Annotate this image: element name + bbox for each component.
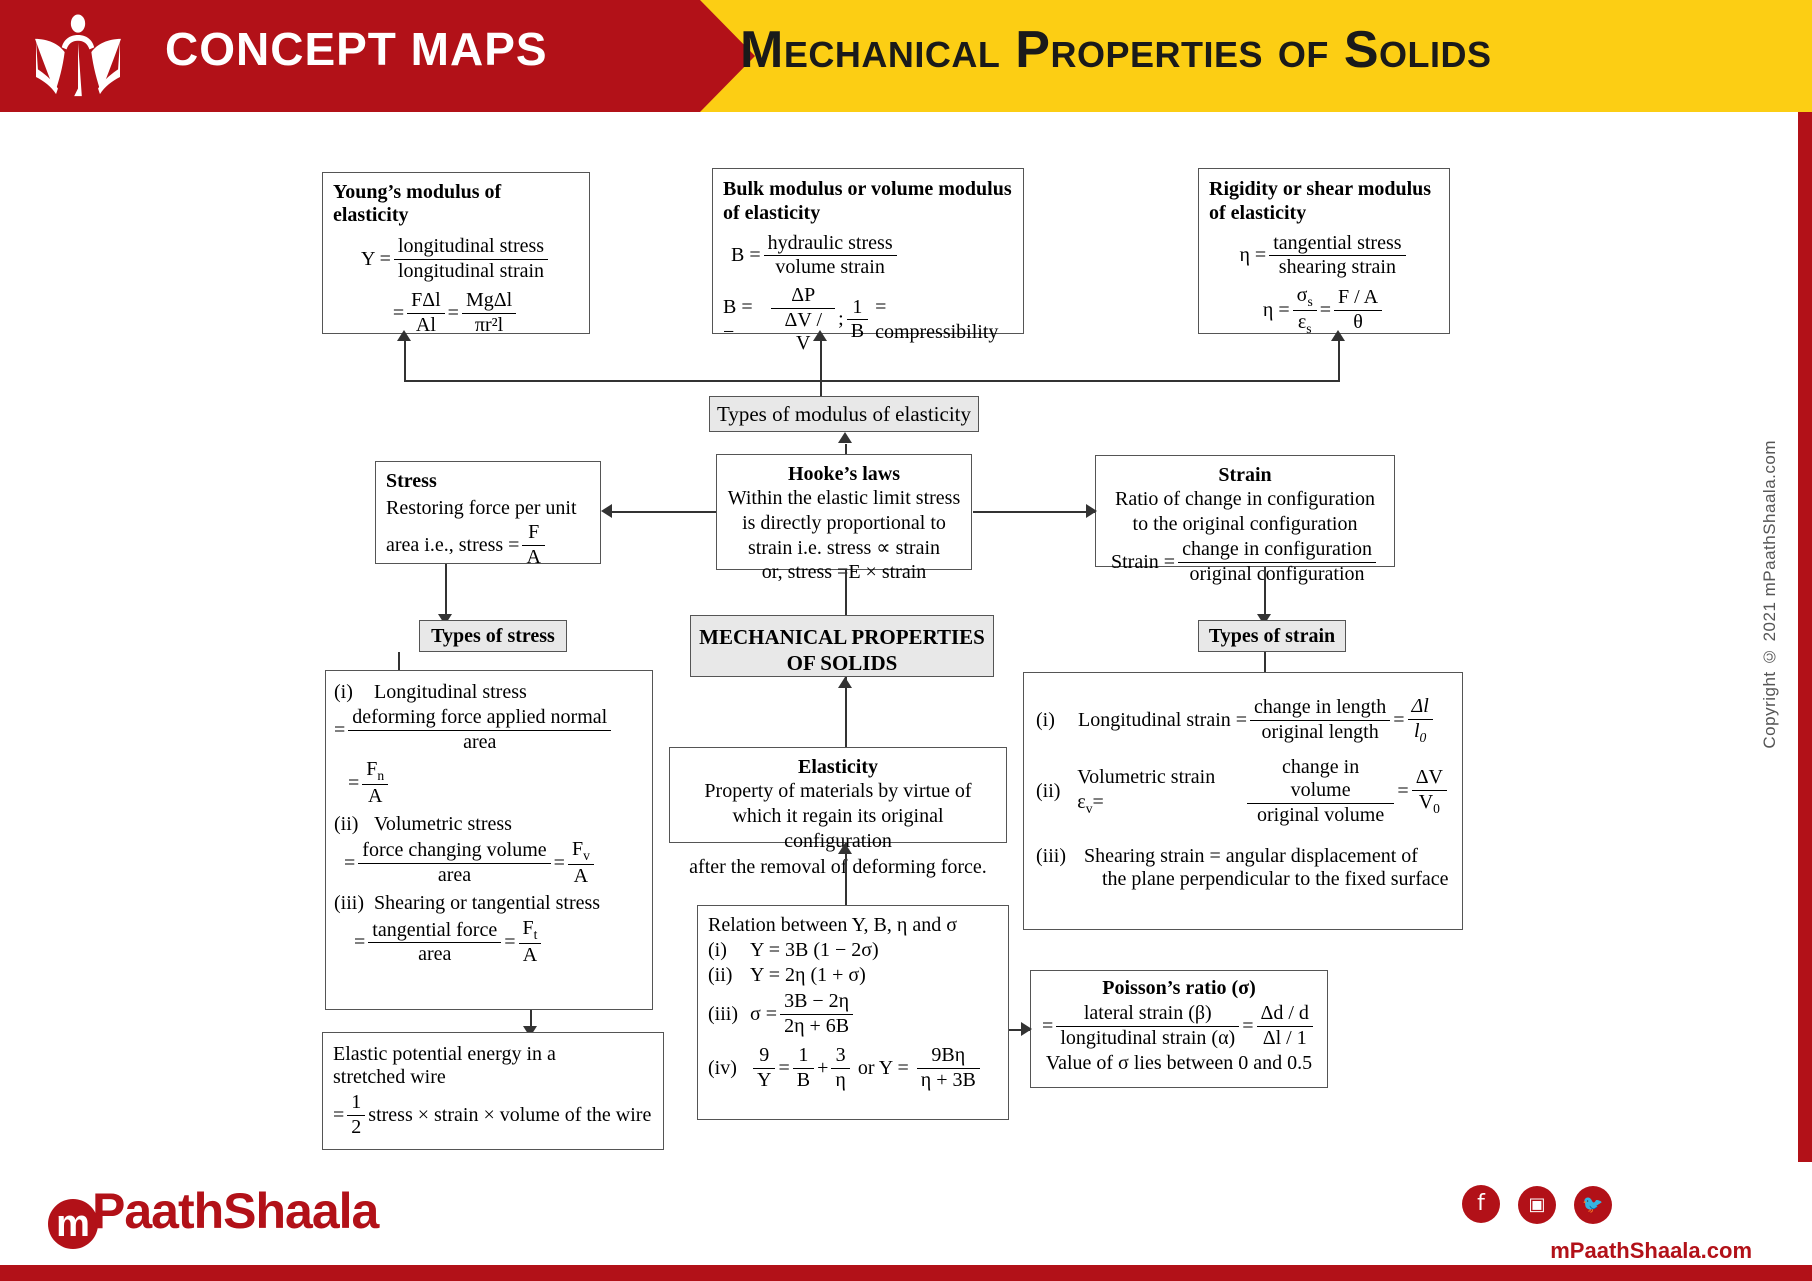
rigidity-eq1-num: tangential stress: [1269, 232, 1405, 257]
node-poissons-ratio: Poisson’s ratio (σ) = lateral strain (β)…: [1030, 970, 1328, 1088]
youngs-eq2-eq: =: [448, 301, 459, 326]
stress-iii-eq-den: area: [368, 943, 501, 967]
connector-hookes-center: [845, 570, 847, 615]
node-types-of-modulus: Types of modulus of elasticity: [709, 396, 979, 432]
poisson-eq-den: longitudinal strain (α): [1056, 1027, 1239, 1051]
hookes-line2: is directly proportional to: [727, 511, 961, 536]
stress-ii-eq-eq: =: [554, 851, 565, 876]
node-elastic-potential-energy: Elastic potential energy in a stretched …: [322, 1032, 664, 1150]
stress-iii-label: (iii): [334, 892, 374, 915]
facebook-icon[interactable]: f: [1462, 1185, 1500, 1223]
bulk-eq1-num: hydraulic stress: [764, 232, 897, 257]
relation-title: Relation between Y, B, η and σ: [708, 914, 998, 937]
stress-iii-text: Shearing or tangential stress: [374, 892, 600, 915]
stress-i-eq1-lhs: =: [334, 718, 345, 743]
strain-i-den2: l0: [1408, 720, 1433, 746]
stress-iii-eq-lhs: =: [354, 930, 365, 955]
stress-i-eq1-den: area: [348, 731, 611, 755]
types-of-modulus-label: Types of modulus of elasticity: [717, 402, 971, 426]
rigidity-eq2-eq: =: [1320, 298, 1331, 323]
relation-ii-text: Y = 2η (1 + σ): [750, 964, 866, 987]
arrow-strain-right: [1086, 504, 1097, 518]
connector-bus-h: [404, 380, 1340, 382]
youngs-eq2-num2: MgΔl: [462, 289, 516, 314]
strain-ii-den2: V0: [1412, 791, 1447, 817]
rigidity-eq2-den: εs: [1293, 311, 1317, 337]
stress-i-eq2-num: Fn: [362, 758, 388, 785]
youngs-eq1-num: longitudinal stress: [394, 235, 548, 260]
page-title: Mechanical Properties of Solids: [740, 20, 1492, 80]
node-types-of-strain: Types of strain: [1198, 620, 1346, 652]
connector-strain-down: [1264, 567, 1266, 620]
relation-iv-n2: 1: [793, 1044, 814, 1069]
stress-iii-eq-num2: Ft: [519, 917, 542, 944]
footer-logo: mPaathShaala: [48, 1182, 378, 1244]
mpaathshaala-logo-icon: [30, 14, 126, 98]
stress-i-eq2-den: A: [362, 785, 388, 809]
connector-hookes-to-stress: [612, 511, 716, 513]
strain-i-num2: Δl: [1408, 695, 1433, 720]
relation-iv-d1: Y: [753, 1069, 775, 1093]
connector-stress-down: [445, 564, 447, 620]
youngs-eq1-lhs: Y =: [361, 247, 391, 272]
node-rigidity-modulus: Rigidity or shear modulus of elasticity …: [1198, 168, 1450, 334]
rigidity-eq1-lhs: η =: [1239, 243, 1266, 268]
relation-iv-d4: η + 3B: [917, 1069, 980, 1093]
strain-eq-lhs: Strain =: [1111, 550, 1175, 575]
strain-ii-label: (ii): [1036, 779, 1077, 804]
stress-frac-den: A: [522, 546, 544, 570]
strain-iii-label: (iii): [1036, 845, 1084, 891]
rigidity-eq2-num2: F / A: [1334, 286, 1382, 311]
stress-i-eq1-num: deforming force applied normal: [348, 706, 611, 731]
strain-i-den: original length: [1250, 721, 1390, 745]
stress-ii-eq-den: area: [358, 864, 550, 888]
elastic-pe-eq-lhs: =: [333, 1103, 344, 1128]
elastic-pe-line1: Elastic potential energy in a: [333, 1043, 653, 1066]
stress-frac-num: F: [522, 521, 544, 546]
arrow-elasticity-up: [838, 843, 852, 854]
bulk-eq1-den: volume strain: [764, 256, 897, 280]
bulk-eq2-lhs: B = −: [723, 295, 768, 345]
center-line2: OF SOLIDS: [691, 650, 993, 676]
types-of-stress-label: Types of stress: [431, 625, 555, 647]
strain-i-eq: =: [1393, 708, 1404, 733]
footer-logo-text: PaathShaala: [92, 1183, 378, 1239]
stress-iii-eq-den2: A: [519, 944, 542, 968]
arrow-bulk: [813, 330, 827, 341]
poisson-eq-num2: Δd / d: [1257, 1002, 1313, 1027]
stress-line2-lhs: area i.e., stress =: [386, 533, 519, 558]
youngs-eq2-lhs: =: [393, 301, 404, 326]
relation-iii-lhs: σ =: [750, 1002, 777, 1027]
rigidity-title: Rigidity or shear modulus of elasticity: [1209, 177, 1439, 226]
stress-ii-eq-num2: Fv: [568, 838, 594, 865]
strain-i-num: change in length: [1250, 696, 1390, 721]
stress-line1: Restoring force per unit: [386, 497, 590, 520]
bulk-eq2-den2: B: [847, 320, 868, 344]
node-hookes-laws: Hooke’s laws Within the elastic limit st…: [716, 454, 972, 570]
hookes-line1: Within the elastic limit stress: [727, 486, 961, 511]
bulk-eq2-num: ΔP: [771, 284, 835, 309]
hookes-title: Hooke’s laws: [727, 463, 961, 486]
elastic-pe-num: 1: [347, 1091, 365, 1116]
center-line1: MECHANICAL PROPERTIES: [691, 624, 993, 650]
stress-ii-eq-lhs: =: [344, 851, 355, 876]
footer-logo-m: m: [48, 1199, 98, 1249]
rigidity-eq2-lhs: η =: [1263, 298, 1290, 323]
stress-ii-text: Volumetric stress: [374, 813, 512, 836]
bulk-eq2-num2: 1: [847, 296, 868, 321]
node-center-title: MECHANICAL PROPERTIES OF SOLIDS: [690, 615, 994, 677]
stress-ii-eq-den2: A: [568, 865, 594, 889]
bulk-eq2-tail: = compressibility: [875, 295, 1013, 345]
copyright-text: Copyright © 2021 mPaathShaala.com: [1760, 440, 1790, 749]
strain-ii-eq: =: [1397, 779, 1408, 804]
strain-ii-text: Volumetric strain εv=: [1077, 765, 1244, 818]
poisson-eq-lhs: =: [1042, 1014, 1053, 1039]
arrow-rigidity: [1331, 330, 1345, 341]
arrow-stress-left: [601, 504, 612, 518]
bulk-eq2-sep: ;: [838, 307, 844, 332]
youngs-title: Young’s modulus of elasticity: [333, 181, 579, 227]
strain-iii-text2: the plane perpendicular to the fixed sur…: [1084, 868, 1449, 891]
poisson-title: Poisson’s ratio (σ): [1039, 977, 1319, 1000]
hookes-line4: or, stress =E × strain: [727, 560, 961, 585]
relation-iv-n1: 9: [753, 1044, 775, 1069]
relation-iii-num: 3B − 2η: [780, 990, 853, 1015]
relation-iii-label: (iii): [708, 1002, 750, 1027]
bulk-eq1-lhs: B =: [731, 243, 761, 268]
stress-i-eq2-lhs: =: [348, 771, 359, 796]
types-of-strain-label: Types of strain: [1209, 625, 1335, 647]
node-strain-types-list: (i) Longitudinal strain = change in leng…: [1023, 672, 1463, 930]
rigidity-eq2-num: σs: [1293, 284, 1317, 311]
twitter-icon[interactable]: 🐦: [1574, 1186, 1612, 1224]
strain-eq-num: change in configuration: [1178, 538, 1376, 563]
relation-iv-or: or Y =: [858, 1056, 909, 1081]
strain-title: Strain: [1106, 464, 1384, 487]
relation-iv-n4: 9Bη: [917, 1044, 980, 1069]
elasticity-line1: Property of materials by virtue of: [680, 779, 996, 804]
stress-iii-eq-num: tangential force: [368, 919, 501, 944]
poisson-eq-eq: =: [1242, 1014, 1253, 1039]
stress-i-text: Longitudinal stress: [374, 681, 527, 704]
node-bulk-modulus: Bulk modulus or volume modulus of elasti…: [712, 168, 1024, 334]
elastic-pe-line2: stretched wire: [333, 1066, 653, 1089]
node-elasticity: Elasticity Property of materials by virt…: [669, 747, 1007, 843]
relation-i-text: Y = 3B (1 − 2σ): [750, 939, 879, 962]
elastic-pe-den: 2: [347, 1116, 365, 1140]
youngs-eq2-num: FΔl: [407, 289, 445, 314]
arrow-hookes-up: [838, 432, 852, 443]
stress-i-label: (i): [334, 681, 374, 704]
footer-bar: [0, 1265, 1812, 1281]
strain-ii-den: original volume: [1247, 804, 1395, 828]
elasticity-title: Elasticity: [680, 756, 996, 779]
elasticity-line3: after the removal of deforming force.: [680, 855, 996, 880]
poisson-eq-num: lateral strain (β): [1056, 1002, 1239, 1027]
strain-i-text: Longitudinal strain =: [1078, 708, 1247, 733]
relation-iv-d3: η: [831, 1069, 849, 1093]
stress-iii-eq-eq: =: [504, 930, 515, 955]
poisson-eq-den2: Δl / 1: [1257, 1027, 1313, 1051]
relation-iv-label: (iv): [708, 1056, 750, 1081]
node-strain: Strain Ratio of change in configuration …: [1095, 455, 1395, 567]
rigidity-eq1-den: shearing strain: [1269, 256, 1405, 280]
stress-ii-label: (ii): [334, 813, 374, 836]
bulk-title: Bulk modulus or volume modulus of elasti…: [723, 177, 1013, 226]
node-types-of-stress: Types of stress: [419, 620, 567, 652]
arrow-youngs: [397, 330, 411, 341]
relation-iv-eq1: =: [778, 1056, 789, 1081]
concept-maps-label: CONCEPT MAPS: [165, 22, 548, 76]
strain-eq-den: original configuration: [1178, 563, 1376, 587]
strain-line1: Ratio of change in configuration: [1106, 487, 1384, 512]
arrow-center-up: [838, 677, 852, 688]
relation-ii-label: (ii): [708, 964, 750, 987]
node-stress: Stress Restoring force per unit area i.e…: [375, 461, 601, 564]
relation-iv-plus: +: [817, 1056, 828, 1081]
page-header: CONCEPT MAPS Mechanical Properties of So…: [0, 0, 1812, 112]
arrow-poisson-right: [1021, 1022, 1032, 1036]
strain-ii-num: change in volume: [1247, 756, 1395, 804]
stress-ii-eq-num: force changing volume: [358, 839, 550, 864]
relation-iii-den: 2η + 6B: [780, 1015, 853, 1039]
youngs-eq2-den: Al: [407, 314, 445, 338]
strain-ii-num2: ΔV: [1412, 766, 1447, 791]
stress-title: Stress: [386, 470, 590, 493]
relation-iv-d2: B: [793, 1069, 814, 1093]
poisson-note: Value of σ lies between 0 and 0.5: [1039, 1052, 1319, 1075]
connector-hookes-to-strain: [973, 511, 1095, 513]
youngs-eq2-den2: πr²l: [462, 314, 516, 338]
site-url[interactable]: mPaathShaala.com: [1550, 1238, 1752, 1264]
strain-i-label: (i): [1036, 708, 1078, 733]
node-youngs-modulus: Young’s modulus of elasticity Y = longit…: [322, 172, 590, 334]
node-stress-types-list: (i)Longitudinal stress = deforming force…: [325, 670, 653, 1010]
node-relation: Relation between Y, B, η and σ (i)Y = 3B…: [697, 905, 1009, 1120]
right-accent-bar: [1798, 112, 1812, 1162]
instagram-icon[interactable]: ▣: [1518, 1186, 1556, 1224]
elastic-pe-eq-tail: stress × strain × volume of the wire: [368, 1103, 651, 1128]
youngs-eq1-den: longitudinal strain: [394, 260, 548, 284]
relation-iv-n3: 3: [831, 1044, 849, 1069]
relation-i-label: (i): [708, 939, 750, 962]
hookes-line3: strain i.e. stress ∝ strain: [727, 536, 961, 561]
strain-line2: to the original configuration: [1106, 512, 1384, 537]
strain-iii-text1: Shearing strain = angular displacement o…: [1084, 845, 1449, 868]
social-links: f ▣ 🐦: [1448, 1185, 1612, 1224]
